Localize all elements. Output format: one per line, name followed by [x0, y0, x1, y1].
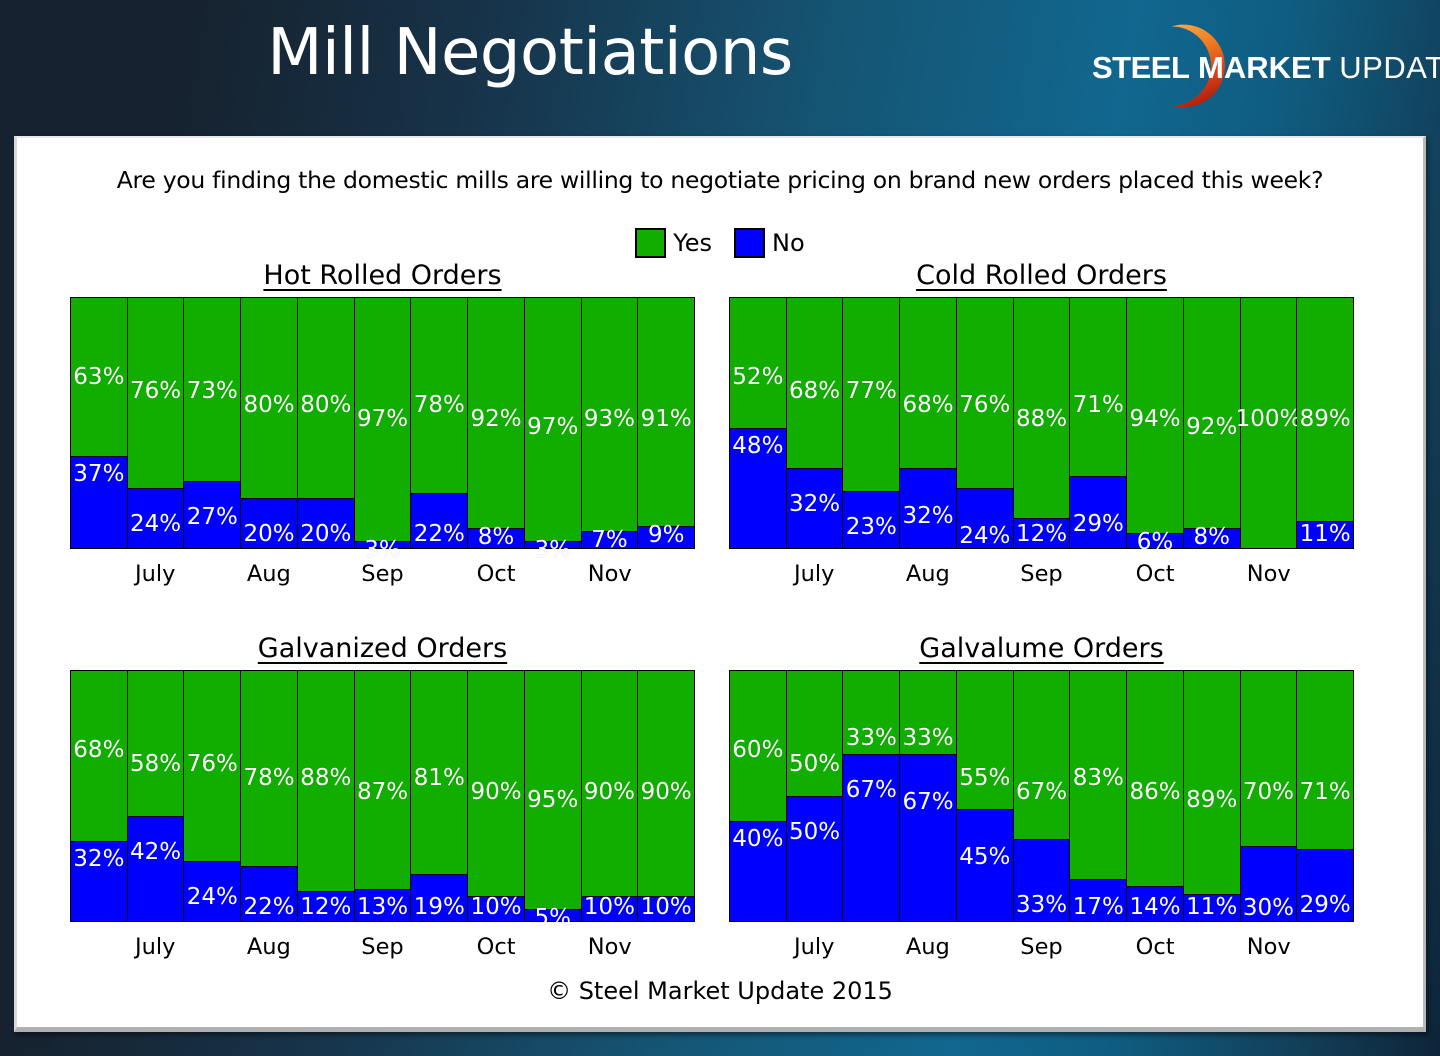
segment-label-no: 17%: [1073, 896, 1124, 919]
segment-label-yes: 68%: [903, 394, 954, 417]
segment-label-no: 13%: [357, 896, 408, 919]
segment-yes: 93%: [582, 298, 638, 531]
segment-label-no: 48%: [732, 435, 783, 458]
segment-yes: 100%: [1241, 298, 1297, 548]
segment-no: 32%: [900, 468, 956, 548]
segment-no: 30%: [1241, 846, 1297, 921]
segment-label-yes: 91%: [641, 408, 692, 431]
bar-galvanized-8[interactable]: 90%10%: [468, 671, 525, 921]
segment-label-yes: 76%: [959, 394, 1010, 417]
segment-yes: 80%: [298, 298, 354, 498]
segment-no: 67%: [843, 754, 899, 922]
segment-label-yes: 95%: [527, 789, 578, 812]
bar-cold-rolled-8[interactable]: 94%6%: [1127, 298, 1184, 548]
x-axis-tick-july: July: [794, 934, 834, 960]
segment-no: 32%: [787, 468, 843, 548]
x-axis-tick-sep: Sep: [361, 561, 403, 587]
segment-label-no: 29%: [1300, 894, 1351, 917]
plot-area-hot-rolled: 63%37%76%24%73%27%80%20%80%20%97%3%78%22…: [70, 297, 695, 549]
segment-label-no: 24%: [959, 525, 1010, 548]
segment-label-yes: 80%: [300, 394, 351, 417]
steel-market-update-logo: STEEL MARKET UPDATE: [1082, 16, 1432, 116]
bar-hot-rolled-9[interactable]: 97%3%: [525, 298, 582, 548]
logo-wordmark: STEEL MARKET UPDATE: [1092, 52, 1432, 83]
segment-label-yes: 68%: [73, 739, 124, 762]
bar-galvalume-10[interactable]: 70%30%: [1241, 671, 1298, 921]
segment-label-yes: 33%: [903, 727, 954, 750]
segment-label-yes: 92%: [1186, 416, 1237, 439]
bar-galvalume-3[interactable]: 33%67%: [843, 671, 900, 921]
segment-no: 24%: [957, 488, 1013, 548]
bar-cold-rolled-5[interactable]: 76%24%: [957, 298, 1014, 548]
segment-label-yes: 97%: [357, 408, 408, 431]
x-axis-tick-oct: Oct: [1136, 561, 1175, 587]
segment-yes: 71%: [1070, 298, 1126, 476]
segment-no: 32%: [71, 841, 127, 921]
segment-yes: 78%: [411, 298, 467, 493]
x-axis-hot-rolled: JulyAugSepOctNov: [70, 549, 695, 591]
legend-item-yes: Yes: [635, 228, 712, 258]
bar-galvanized-2[interactable]: 58%42%: [128, 671, 185, 921]
segment-label-yes: 93%: [584, 408, 635, 431]
segment-no: 6%: [1127, 533, 1183, 548]
bar-galvalume-7[interactable]: 83%17%: [1070, 671, 1127, 921]
segment-yes: 91%: [638, 298, 694, 526]
segment-label-no: 27%: [187, 506, 238, 529]
segment-label-no: 24%: [130, 513, 181, 536]
segment-label-yes: 87%: [357, 781, 408, 804]
x-axis-tick-aug: Aug: [906, 561, 950, 587]
page-title: Mill Negotiations: [0, 16, 1060, 90]
segment-no: 8%: [468, 528, 524, 548]
bar-cold-rolled-9[interactable]: 92%8%: [1184, 298, 1241, 548]
bar-galvanized-4[interactable]: 78%22%: [241, 671, 298, 921]
chart-legend: Yes No: [17, 228, 1423, 258]
bar-galvalume-1[interactable]: 60%40%: [730, 671, 787, 921]
segment-label-yes: 67%: [1016, 781, 1067, 804]
x-axis-tick-nov: Nov: [588, 934, 632, 960]
bar-galvalume-5[interactable]: 55%45%: [957, 671, 1014, 921]
segment-yes: 60%: [730, 671, 786, 821]
segment-yes: 70%: [1241, 671, 1297, 846]
legend-label-yes: Yes: [673, 229, 712, 257]
survey-question: Are you finding the domestic mills are w…: [17, 166, 1423, 194]
bar-galvanized-10[interactable]: 90%10%: [582, 671, 639, 921]
segment-yes: 94%: [1127, 298, 1183, 533]
slide-header: Mill Negotiations STEEL MARKET UPDATE: [0, 0, 1440, 134]
x-axis-tick-nov: Nov: [1247, 934, 1291, 960]
segment-label-yes: 83%: [1073, 767, 1124, 790]
segment-label-yes: 68%: [789, 380, 840, 403]
segment-label-yes: 73%: [187, 380, 238, 403]
chart-title-cold-rolled: Cold Rolled Orders: [729, 260, 1354, 291]
segment-yes: 90%: [582, 671, 638, 896]
legend-item-no: No: [734, 228, 805, 258]
bar-galvanized-6[interactable]: 87%13%: [355, 671, 412, 921]
segment-label-yes: 88%: [300, 767, 351, 790]
segment-label-no: 30%: [1243, 897, 1294, 920]
segment-yes: 95%: [525, 671, 581, 909]
x-axis-cold-rolled: JulyAugSepOctNov: [729, 549, 1354, 591]
segment-label-no: 14%: [1129, 896, 1180, 919]
segment-yes: 63%: [71, 298, 127, 456]
chart-galvalume: Galvalume Orders60%40%50%50%33%67%33%67%…: [729, 633, 1354, 983]
segment-no: 11%: [1184, 894, 1240, 922]
bar-hot-rolled-4[interactable]: 80%20%: [241, 298, 298, 548]
segment-label-yes: 76%: [130, 380, 181, 403]
segment-label-no: 37%: [73, 463, 124, 486]
segment-no: 10%: [468, 896, 524, 921]
segment-label-yes: 71%: [1073, 394, 1124, 417]
segment-label-yes: 70%: [1243, 781, 1294, 804]
x-axis-galvalume: JulyAugSepOctNov: [729, 922, 1354, 964]
segment-no: 3%: [525, 541, 581, 549]
segment-label-no: 10%: [470, 896, 521, 919]
bar-galvanized-1[interactable]: 68%32%: [71, 671, 128, 921]
segment-label-no: 22%: [244, 896, 295, 919]
segment-no: 10%: [638, 896, 694, 921]
segment-label-yes: 60%: [732, 739, 783, 762]
segment-yes: 68%: [787, 298, 843, 468]
segment-label-no: 8%: [1193, 526, 1230, 549]
x-axis-tick-oct: Oct: [1136, 934, 1175, 960]
chart-cold-rolled: Cold Rolled Orders52%48%68%32%77%23%68%3…: [729, 260, 1354, 610]
segment-no: 12%: [298, 891, 354, 921]
segment-yes: 81%: [411, 671, 467, 874]
logo-word-market: MARKET: [1198, 50, 1331, 85]
segment-yes: 83%: [1070, 671, 1126, 879]
segment-label-yes: 50%: [789, 753, 840, 776]
segment-yes: 33%: [843, 671, 899, 754]
bar-hot-rolled-8[interactable]: 92%8%: [468, 298, 525, 548]
segment-no: 14%: [1127, 886, 1183, 921]
plot-area-cold-rolled: 52%48%68%32%77%23%68%32%76%24%88%12%71%2…: [729, 297, 1354, 549]
segment-no: 3%: [355, 541, 411, 549]
x-axis-tick-sep: Sep: [361, 934, 403, 960]
x-axis-tick-aug: Aug: [247, 934, 291, 960]
segment-yes: 71%: [1297, 671, 1353, 849]
segment-no: 22%: [411, 493, 467, 548]
x-axis-tick-oct: Oct: [477, 561, 516, 587]
segment-label-no: 23%: [846, 516, 897, 539]
segment-yes: 55%: [957, 671, 1013, 809]
segment-label-no: 22%: [414, 523, 465, 546]
bar-galvalume-9[interactable]: 89%11%: [1184, 671, 1241, 921]
segment-yes: 87%: [355, 671, 411, 889]
segment-no: 17%: [1070, 879, 1126, 922]
segment-label-yes: 89%: [1300, 408, 1351, 431]
segment-label-yes: 80%: [244, 394, 295, 417]
segment-label-yes: 94%: [1129, 408, 1180, 431]
bar-cold-rolled-6[interactable]: 88%12%: [1014, 298, 1071, 548]
bar-cold-rolled-1[interactable]: 52%48%: [730, 298, 787, 548]
segment-label-no: 12%: [1016, 523, 1067, 546]
chart-galvanized: Galvanized Orders68%32%58%42%76%24%78%22…: [70, 633, 695, 983]
segment-no: 8%: [1184, 528, 1240, 548]
segment-yes: 92%: [468, 298, 524, 528]
legend-label-no: No: [772, 229, 805, 257]
segment-yes: 78%: [241, 671, 297, 866]
bar-hot-rolled-5[interactable]: 80%20%: [298, 298, 355, 548]
segment-yes: 90%: [638, 671, 694, 896]
x-axis-tick-nov: Nov: [588, 561, 632, 587]
bar-hot-rolled-2[interactable]: 76%24%: [128, 298, 185, 548]
x-axis-tick-july: July: [135, 561, 175, 587]
segment-yes: 88%: [298, 671, 354, 891]
segment-yes: 73%: [184, 298, 240, 481]
bar-cold-rolled-4[interactable]: 68%32%: [900, 298, 957, 548]
segment-yes: 52%: [730, 298, 786, 428]
bar-hot-rolled-11[interactable]: 91%9%: [638, 298, 694, 548]
segment-yes: 67%: [1014, 671, 1070, 839]
bar-cold-rolled-3[interactable]: 77%23%: [843, 298, 900, 548]
bar-galvanized-7[interactable]: 81%19%: [411, 671, 468, 921]
segment-no: 40%: [730, 821, 786, 921]
segment-no: 10%: [582, 896, 638, 921]
segment-no: 37%: [71, 456, 127, 549]
segment-yes: 58%: [128, 671, 184, 816]
segment-label-yes: 81%: [414, 767, 465, 790]
segment-no: 11%: [1297, 521, 1353, 549]
bar-galvalume-4[interactable]: 33%67%: [900, 671, 957, 921]
segment-yes: 68%: [900, 298, 956, 468]
plot-area-galvalume: 60%40%50%50%33%67%33%67%55%45%67%33%83%1…: [729, 670, 1354, 922]
segment-yes: 76%: [184, 671, 240, 861]
bar-galvalume-2[interactable]: 50%50%: [787, 671, 844, 921]
segment-no: 24%: [184, 861, 240, 921]
segment-no: 5%: [525, 909, 581, 922]
segment-label-no: 33%: [1016, 894, 1067, 917]
segment-yes: 80%: [241, 298, 297, 498]
logo-word-steel: STEEL: [1092, 50, 1189, 85]
bar-galvanized-9[interactable]: 95%5%: [525, 671, 582, 921]
segment-no: 29%: [1297, 849, 1353, 922]
bar-hot-rolled-3[interactable]: 73%27%: [184, 298, 241, 548]
segment-no: 24%: [128, 488, 184, 548]
bar-cold-rolled-11[interactable]: 89%11%: [1297, 298, 1353, 548]
segment-yes: 97%: [355, 298, 411, 541]
segment-label-no: 29%: [1073, 513, 1124, 536]
x-axis-tick-aug: Aug: [906, 934, 950, 960]
bar-galvalume-6[interactable]: 67%33%: [1014, 671, 1071, 921]
segment-label-no: 32%: [903, 505, 954, 528]
segment-no: 33%: [1014, 839, 1070, 922]
segment-no: 20%: [298, 498, 354, 548]
segment-label-no: 19%: [414, 896, 465, 919]
segment-yes: 89%: [1297, 298, 1353, 521]
bar-galvalume-8[interactable]: 86%14%: [1127, 671, 1184, 921]
segment-label-no: 40%: [732, 828, 783, 851]
segment-label-yes: 92%: [470, 408, 521, 431]
segment-label-yes: 77%: [846, 380, 897, 403]
bar-galvanized-5[interactable]: 88%12%: [298, 671, 355, 921]
segment-no: 12%: [1014, 518, 1070, 548]
segment-no: 23%: [843, 491, 899, 549]
segment-label-no: 11%: [1186, 896, 1237, 919]
plot-area-galvanized: 68%32%58%42%76%24%78%22%88%12%87%13%81%1…: [70, 670, 695, 922]
segment-yes: 33%: [900, 671, 956, 754]
segment-no: 19%: [411, 874, 467, 922]
x-axis-tick-july: July: [794, 561, 834, 587]
bar-galvanized-3[interactable]: 76%24%: [184, 671, 241, 921]
segment-yes: 76%: [957, 298, 1013, 488]
logo-word-update: UPDATE: [1339, 50, 1440, 85]
segment-no: 22%: [241, 866, 297, 921]
segment-label-yes: 90%: [641, 781, 692, 804]
segment-no: 45%: [957, 809, 1013, 922]
segment-label-no: 20%: [300, 523, 351, 546]
segment-no: 13%: [355, 889, 411, 922]
segment-label-no: 50%: [789, 821, 840, 844]
x-axis-tick-july: July: [135, 934, 175, 960]
segment-label-yes: 58%: [130, 753, 181, 776]
bar-hot-rolled-6[interactable]: 97%3%: [355, 298, 412, 548]
segment-label-no: 10%: [641, 896, 692, 919]
segment-label-no: 24%: [187, 886, 238, 909]
segment-label-yes: 71%: [1300, 781, 1351, 804]
segment-yes: 97%: [525, 298, 581, 541]
segment-yes: 76%: [128, 298, 184, 488]
segment-label-yes: 63%: [73, 366, 124, 389]
segment-label-no: 20%: [244, 523, 295, 546]
segment-yes: 68%: [71, 671, 127, 841]
bar-cold-rolled-2[interactable]: 68%32%: [787, 298, 844, 548]
segment-no: 50%: [787, 796, 843, 921]
chart-title-galvalume: Galvalume Orders: [729, 633, 1354, 664]
segment-label-yes: 89%: [1186, 789, 1237, 812]
segment-label-no: 45%: [959, 846, 1010, 869]
segment-label-no: 12%: [300, 896, 351, 919]
segment-no: 9%: [638, 526, 694, 549]
segment-label-no: 67%: [846, 779, 897, 802]
legend-swatch-no: [734, 228, 765, 258]
segment-label-no: 32%: [73, 848, 124, 871]
segment-label-yes: 97%: [527, 416, 578, 439]
segment-no: 29%: [1070, 476, 1126, 549]
x-axis-tick-oct: Oct: [477, 934, 516, 960]
bar-hot-rolled-7[interactable]: 78%22%: [411, 298, 468, 548]
chart-hot-rolled: Hot Rolled Orders63%37%76%24%73%27%80%20…: [70, 260, 695, 610]
x-axis-galvanized: JulyAugSepOctNov: [70, 922, 695, 964]
bar-cold-rolled-10[interactable]: 100%: [1241, 298, 1298, 548]
segment-label-yes: 78%: [414, 394, 465, 417]
x-axis-tick-sep: Sep: [1020, 561, 1062, 587]
segment-label-no: 67%: [903, 791, 954, 814]
bar-galvanized-11[interactable]: 90%10%: [638, 671, 694, 921]
legend-swatch-yes: [635, 228, 666, 258]
x-axis-tick-aug: Aug: [247, 561, 291, 587]
segment-yes: 90%: [468, 671, 524, 896]
segment-yes: 86%: [1127, 671, 1183, 886]
segment-no: 42%: [128, 816, 184, 921]
bar-hot-rolled-1[interactable]: 63%37%: [71, 298, 128, 548]
segment-no: 48%: [730, 428, 786, 548]
segment-label-no: 8%: [478, 526, 515, 549]
segment-yes: 88%: [1014, 298, 1070, 518]
segment-yes: 89%: [1184, 671, 1240, 894]
segment-label-yes: 90%: [470, 781, 521, 804]
bar-galvalume-11[interactable]: 71%29%: [1297, 671, 1353, 921]
charts-grid: Hot Rolled Orders63%37%76%24%73%27%80%20…: [17, 260, 1423, 1000]
bar-cold-rolled-7[interactable]: 71%29%: [1070, 298, 1127, 548]
segment-label-yes: 90%: [584, 781, 635, 804]
segment-yes: 50%: [787, 671, 843, 796]
segment-yes: 92%: [1184, 298, 1240, 528]
x-axis-tick-nov: Nov: [1247, 561, 1291, 587]
segment-label-yes: 33%: [846, 727, 897, 750]
segment-label-no: 32%: [789, 493, 840, 516]
segment-label-yes: 52%: [732, 366, 783, 389]
segment-label-no: 10%: [584, 896, 635, 919]
segment-no: 67%: [900, 754, 956, 922]
segment-label-no: 9%: [648, 524, 685, 547]
segment-label-no: 42%: [130, 841, 181, 864]
segment-no: 20%: [241, 498, 297, 548]
segment-label-yes: 78%: [244, 767, 295, 790]
segment-yes: 77%: [843, 298, 899, 491]
segment-label-yes: 100%: [1236, 408, 1302, 431]
slide-content-panel: Are you finding the domestic mills are w…: [14, 136, 1426, 1032]
chart-title-hot-rolled: Hot Rolled Orders: [70, 260, 695, 291]
segment-label-yes: 76%: [187, 753, 238, 776]
x-axis-tick-sep: Sep: [1020, 934, 1062, 960]
copyright-footer: © Steel Market Update 2015: [17, 977, 1423, 1005]
segment-label-yes: 55%: [959, 767, 1010, 790]
segment-label-no: 11%: [1300, 523, 1351, 546]
chart-title-galvanized: Galvanized Orders: [70, 633, 695, 664]
segment-label-yes: 86%: [1129, 781, 1180, 804]
bar-hot-rolled-10[interactable]: 93%7%: [582, 298, 639, 548]
segment-no: 7%: [582, 531, 638, 549]
segment-no: 27%: [184, 481, 240, 549]
segment-label-yes: 88%: [1016, 408, 1067, 431]
